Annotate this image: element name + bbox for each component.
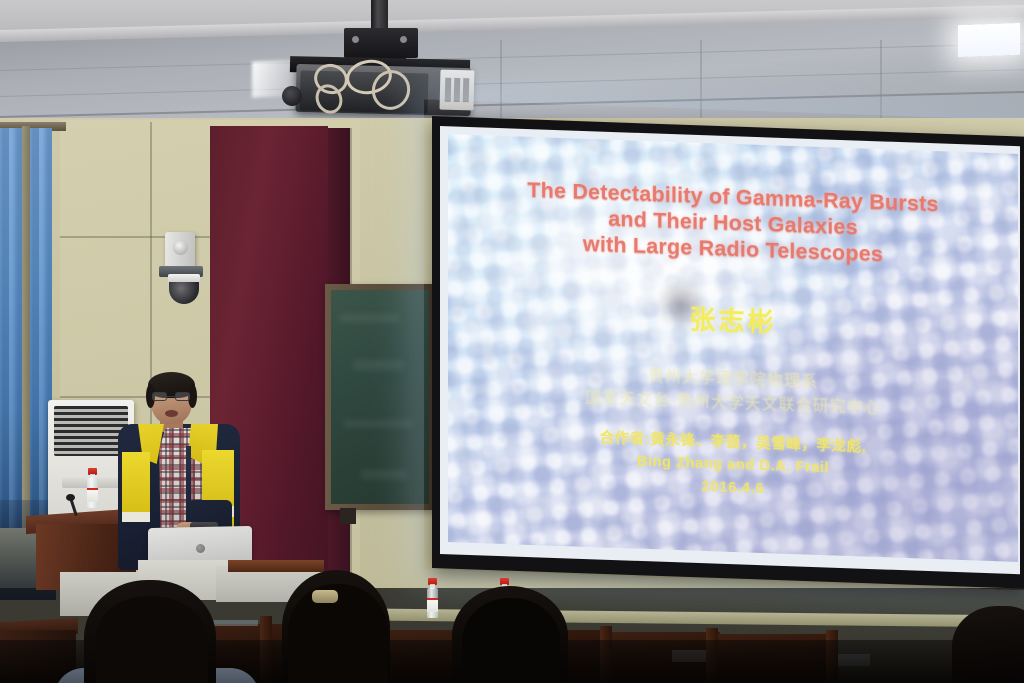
ceiling-light-panel xyxy=(958,23,1020,57)
slide-author-name: 张志彬 xyxy=(689,299,776,339)
presenter-jacket-panel-left xyxy=(122,452,150,518)
audience-hair-tie xyxy=(312,590,338,603)
wall-panel-seam xyxy=(60,236,220,238)
microphone-icon xyxy=(66,494,75,501)
audience-hair xyxy=(462,598,560,683)
ceiling-tile-line xyxy=(880,40,882,130)
laptop-logo-icon xyxy=(196,544,205,553)
slide-title: The Detectability of Gamma-Ray Bursts an… xyxy=(527,177,938,270)
security-camera-mount-plate xyxy=(173,240,188,255)
chalkboard-surface[interactable] xyxy=(331,290,429,504)
air-conditioner-grille xyxy=(54,406,128,456)
projection-screen-image[interactable]: The Detectability of Gamma-Ray Bursts an… xyxy=(448,134,1018,562)
audience-hair xyxy=(288,584,388,683)
ceiling-tile-line xyxy=(500,40,502,130)
glasses-icon xyxy=(152,392,190,401)
projector-bolt xyxy=(352,36,359,43)
presenter-mouth xyxy=(165,410,178,417)
lecture-hall-scene: The Detectability of Gamma-Ray Bursts an… xyxy=(0,0,1024,683)
chalkboard-tray xyxy=(340,508,356,524)
front-desk-wood-rail xyxy=(228,560,324,572)
bottle-label xyxy=(427,598,438,612)
ceiling-tile-line xyxy=(700,40,702,130)
slide-collaborators: 合作者:黄永锋、李茵，吴雪峰，李龙彪, Bing Zhang and D.A. … xyxy=(600,429,867,482)
projector-bolt xyxy=(400,36,407,43)
bottle-label xyxy=(87,488,98,502)
audience-hair xyxy=(96,596,208,683)
slide-text-block: The Detectability of Gamma-Ray Bursts an… xyxy=(448,134,1018,562)
slide-affiliation: 贵州大学理学院物理系 国家天文台-贵州大学天文联合研究中心 xyxy=(585,362,880,422)
slide-date: 2016.4.6 xyxy=(702,479,765,497)
presenter-jacket-stripe-left xyxy=(122,512,150,522)
window-frame xyxy=(22,126,30,528)
projector-vent-grille xyxy=(440,70,475,111)
